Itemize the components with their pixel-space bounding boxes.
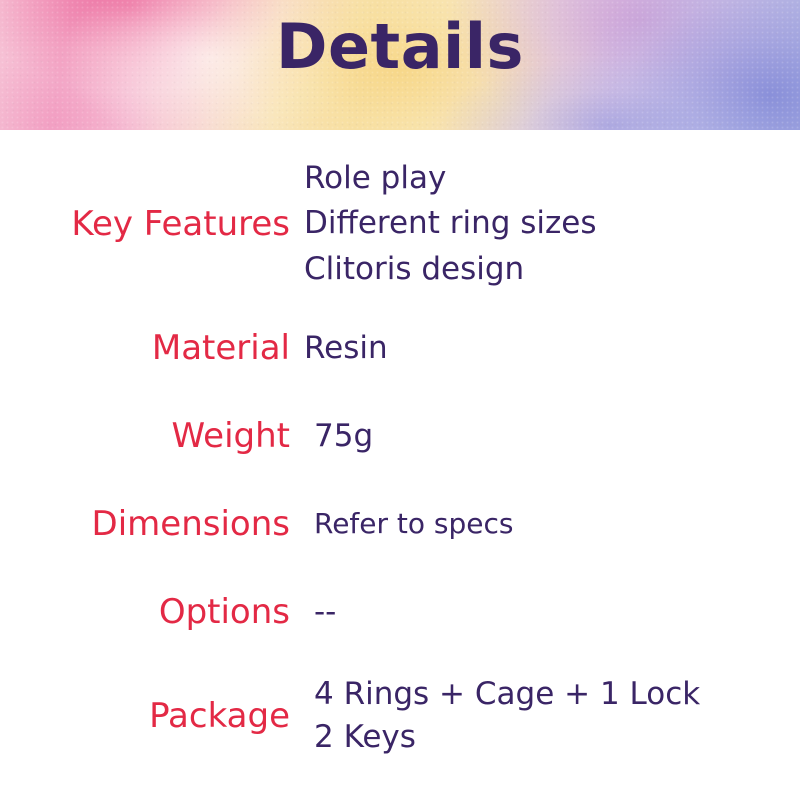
spec-table: Key Features Role play Different ring si…	[0, 130, 800, 776]
spec-row-material: Material Resin	[0, 304, 800, 392]
spec-value-line: Resin	[304, 327, 800, 369]
spec-label-dimensions: Dimensions	[0, 505, 290, 543]
spec-value-options: --	[290, 591, 800, 633]
spec-value-key-features: Role play Different ring sizes Clitoris …	[290, 156, 800, 292]
spec-row-options: Options --	[0, 568, 800, 656]
spec-value-line: Role play	[304, 156, 800, 201]
spec-value-dimensions: Refer to specs	[290, 505, 800, 543]
spec-row-key-features: Key Features Role play Different ring si…	[0, 144, 800, 304]
details-page: Details Key Features Role play Different…	[0, 0, 800, 800]
spec-value-line: Clitoris design	[304, 247, 800, 292]
spec-label-options: Options	[0, 593, 290, 631]
spec-value-line: Refer to specs	[314, 505, 800, 543]
header-banner: Details	[0, 0, 800, 130]
spec-label-key-features: Key Features	[0, 205, 290, 243]
spec-value-line: 4 Rings + Cage + 1 Lock	[314, 673, 800, 716]
spec-value-package: 4 Rings + Cage + 1 Lock 2 Keys	[290, 673, 800, 760]
spec-row-dimensions: Dimensions Refer to specs	[0, 480, 800, 568]
spec-row-package: Package 4 Rings + Cage + 1 Lock 2 Keys	[0, 656, 800, 776]
spec-row-weight: Weight 75g	[0, 392, 800, 480]
spec-value-line: --	[314, 591, 800, 633]
spec-value-material: Resin	[290, 327, 800, 369]
spec-value-line: 75g	[314, 415, 800, 457]
page-title: Details	[0, 16, 800, 78]
spec-label-weight: Weight	[0, 417, 290, 455]
spec-value-line: Different ring sizes	[304, 201, 800, 246]
spec-label-material: Material	[0, 329, 290, 367]
spec-value-weight: 75g	[290, 415, 800, 457]
spec-label-package: Package	[0, 697, 290, 735]
spec-value-line: 2 Keys	[314, 716, 800, 759]
